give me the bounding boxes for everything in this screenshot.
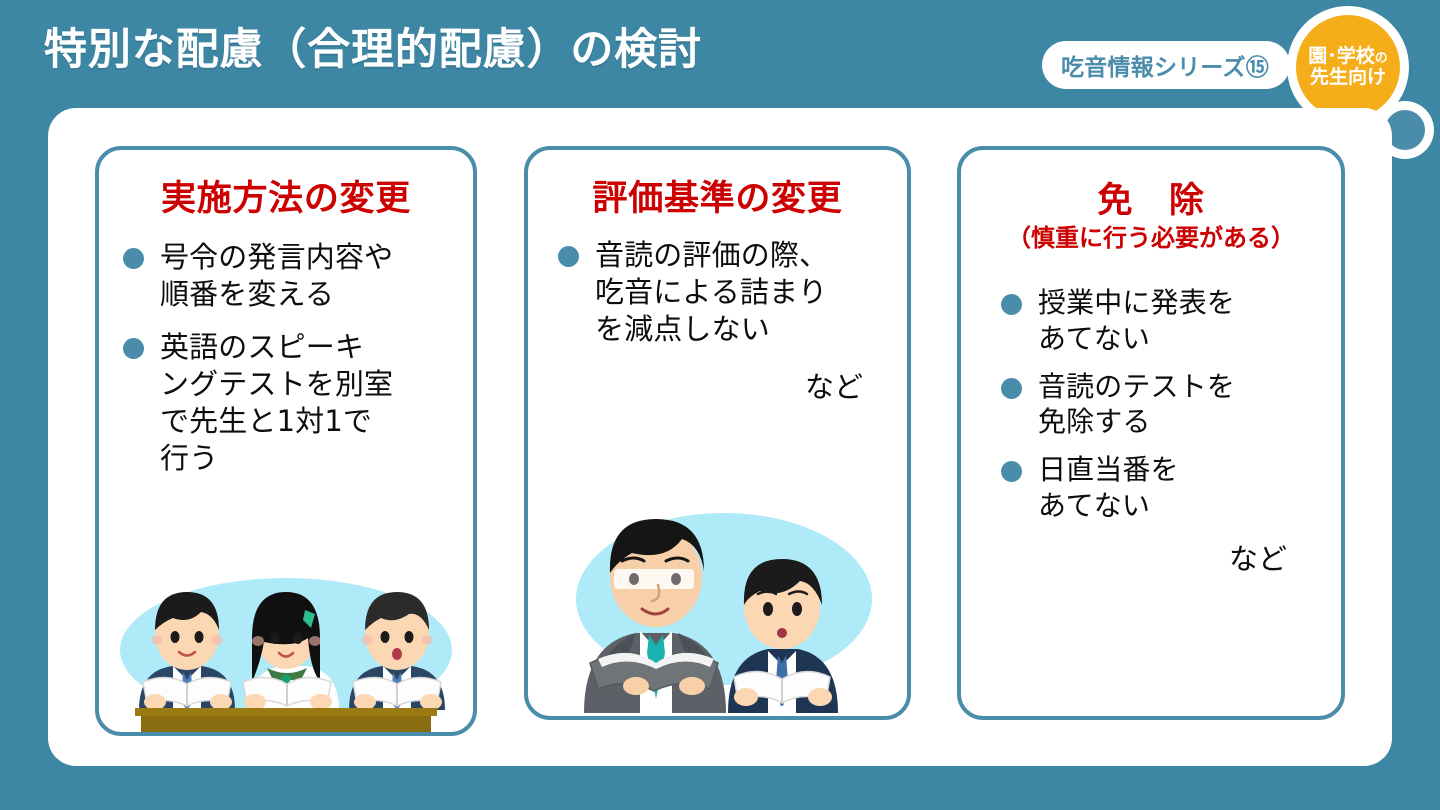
bullet-dot-icon [123,248,144,269]
list-item: 授業中に発表をあてない [1001,285,1341,357]
bullet-dot-icon [1001,461,1022,482]
card-title: 実施方法の変更 [99,180,473,219]
bullet-text: 授業中に発表をあてない [1038,285,1235,357]
list-item: 日直当番をあてない [1001,452,1341,524]
slide-root: 特別な配慮（合理的配慮）の検討 吃音情報シリーズ⑮ 園･学校の 先生向け 実施方… [0,0,1440,810]
bullet-text: 号令の発言内容や順番を変える [160,239,393,313]
bullet-dot-icon [558,246,579,267]
bullet-dot-icon [1001,378,1022,399]
audience-badge-line2: 先生向け [1310,67,1386,88]
audience-badge-line1: 園･学校の [1308,46,1388,67]
card-evaluation-change: 評価基準の変更 音読の評価の際、吃音による詰まりを減点しない など [524,146,911,720]
list-item: 音読のテストを免除する [1001,369,1341,441]
card-title: 評価基準の変更 [528,180,907,219]
bullet-text: 音読の評価の際、吃音による詰まりを減点しない [595,237,828,348]
card-title: 免 除 [961,182,1341,221]
list-item: 音読の評価の際、吃音による詰まりを減点しない [558,237,907,348]
series-badge: 吃音情報シリーズ⑮ [1042,41,1290,89]
bullet-dot-icon [1001,294,1022,315]
etc-label: など [961,536,1287,578]
bullet-text: 英語のスピーキングテストを別室で先生と1対1で行う [160,329,393,477]
list-item: 号令の発言内容や順番を変える [123,239,473,313]
illustration-teacher-and-student-reading [528,481,907,716]
etc-label: など [528,364,863,406]
audience-badge: 園･学校の 先生向け [1296,15,1400,119]
card-subtitle: （慎重に行う必要がある） [961,225,1341,251]
card-implementation-change: 実施方法の変更 号令の発言内容や順番を変える 英語のスピーキングテストを別室で先… [95,146,477,736]
bullet-dot-icon [123,338,144,359]
card-heading: 実施方法の変更 [99,180,473,219]
card-exemption: 免 除 （慎重に行う必要がある） 授業中に発表をあてない 音読のテストを免除する… [957,146,1345,720]
bullet-list: 号令の発言内容や順番を変える 英語のスピーキングテストを別室で先生と1対1で行う [123,239,473,478]
card-heading: 免 除 （慎重に行う必要がある） [961,182,1341,251]
bullet-text: 日直当番をあてない [1038,452,1179,524]
card-heading: 評価基準の変更 [528,180,907,219]
series-badge-label: 吃音情報シリーズ⑮ [1061,48,1271,82]
illustration-three-students-reading [99,542,473,732]
bullet-list: 授業中に発表をあてない 音読のテストを免除する 日直当番をあてない [1001,285,1341,524]
bullet-text: 音読のテストを免除する [1038,369,1235,441]
list-item: 英語のスピーキングテストを別室で先生と1対1で行う [123,329,473,477]
page-title: 特別な配慮（合理的配慮）の検討 [44,26,702,75]
bullet-list: 音読の評価の際、吃音による詰まりを減点しない [558,237,907,348]
